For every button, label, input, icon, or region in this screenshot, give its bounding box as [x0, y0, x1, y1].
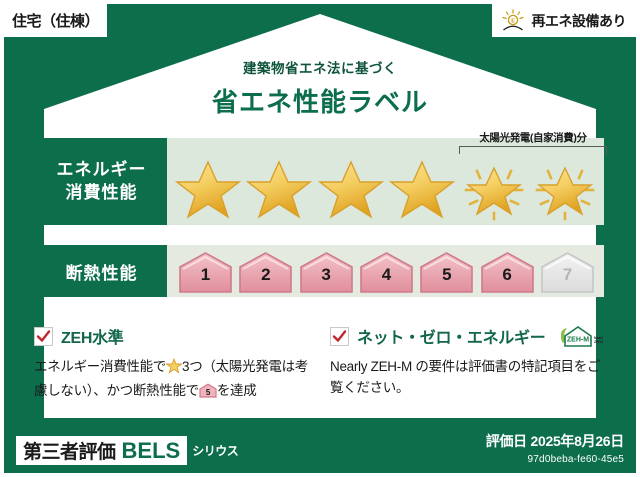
solar-annotation: 太陽光発電(自家消費)分 [459, 130, 607, 154]
renewable-badge-label: 再エネ設備あり [532, 11, 627, 31]
category-tab-label: 住宅（住棟） [12, 10, 99, 31]
insulation-grade-4: 4 [358, 250, 415, 294]
zeh-standard-body: エネルギー消費性能で 3つ（太陽光発電は考慮しない）、かつ断熱性能で 5を達成 [34, 357, 312, 405]
zeh-standard-body-part1: エネルギー消費性能で [34, 359, 166, 374]
title-main: 省エネ性能ラベル [0, 82, 640, 119]
svg-text:ZEH-M: ZEH-M [594, 340, 603, 344]
evaluation-date-value: 2025年8月26日 [530, 433, 624, 449]
bels-label: BELS [122, 438, 181, 464]
insulation-grade-scale: 1 2 3 [177, 249, 596, 295]
footer-evaluation-meta: 評価日 2025年8月26日 97d0beba-fe60-45e5 [486, 431, 624, 465]
insulation-grade-7-number: 7 [539, 265, 596, 285]
insulation-grade-2-number: 2 [237, 265, 294, 285]
star-filled [389, 157, 455, 221]
net-zero-energy-title: ネット・ゼロ・エネルギー [357, 324, 545, 348]
star-filled [246, 157, 312, 221]
insulation-row-label: 断熱性能 [36, 245, 167, 297]
zeh-standard-checkbox[interactable] [34, 327, 53, 346]
document-id: 97d0beba-fe60-45e5 [486, 454, 624, 465]
zeh-standard-header: ZEH水準 [34, 324, 312, 348]
sirius-label: シリウス [192, 442, 238, 459]
energy-row-value: 太陽光発電(自家消費)分 [167, 138, 604, 225]
renewable-energy-badge: E 再エネ設備あり [492, 4, 637, 37]
insulation-grade-3-number: 3 [298, 265, 355, 285]
star-rating [175, 156, 598, 222]
insulation-grade-4-number: 4 [358, 265, 415, 285]
star-filled [318, 157, 384, 221]
svg-text:E: E [511, 18, 515, 24]
star-filled-solar [532, 157, 598, 221]
energy-row-label-line2: 消費性能 [66, 182, 138, 205]
check-icon [332, 329, 347, 344]
net-zero-energy-body: Nearly ZEH-M の要件は評価書の特記項目をご覧ください。 [330, 357, 608, 399]
category-tab: 住宅（住棟） [4, 4, 107, 37]
svg-text:ZEH-M: ZEH-M [567, 337, 589, 344]
insulation-grade-3: 3 [298, 250, 355, 294]
energy-performance-label: 住宅（住棟） E 再エネ設備あり 建築物省エネ法に基づく 省エネ性能ラベル [0, 0, 640, 477]
insulation-grade-5: 5 [418, 250, 475, 294]
energy-row-label: エネルギー 消費性能 [36, 138, 167, 225]
sun-renewable-icon: E [500, 9, 526, 33]
evaluation-date-label: 評価日 [486, 433, 527, 449]
title-subtitle: 建築物省エネ法に基づく [0, 57, 640, 77]
zeh-standard-body-part3: を達成 [217, 383, 257, 398]
net-zero-energy-header: ネット・ゼロ・エネルギー ZEH-M Nearly ZEH-M [330, 324, 608, 348]
insulation-grade-7: 7 [539, 250, 596, 294]
check-icon [36, 329, 51, 344]
star-filled-solar [461, 157, 527, 221]
insulation-grade-6: 6 [479, 250, 536, 294]
footer-evaluation-brand: 第三者評価 BELS シリウス [16, 436, 238, 465]
zeh-m-logo-icon: ZEH-M Nearly ZEH-M [555, 324, 601, 348]
insulation-row-label-text: 断熱性能 [66, 259, 138, 284]
net-zero-energy-checkbox[interactable] [330, 327, 349, 346]
insulation-grade-1: 1 [177, 250, 234, 294]
zeh-standard-title: ZEH水準 [61, 324, 124, 348]
energy-row-label-line1: エネルギー [57, 159, 147, 182]
evaluation-date: 評価日 2025年8月26日 [486, 431, 624, 451]
solar-bracket [459, 146, 607, 154]
insulation-grade-2: 2 [237, 250, 294, 294]
page-title: 建築物省エネ法に基づく 省エネ性能ラベル [0, 57, 640, 119]
solar-annotation-label: 太陽光発電(自家消費)分 [459, 130, 607, 145]
energy-performance-row: エネルギー 消費性能 太陽光発電(自家消費)分 [36, 138, 604, 225]
insulation-grade-1-number: 1 [177, 265, 234, 285]
net-zero-energy-block: ネット・ゼロ・エネルギー ZEH-M Nearly ZEH-M Nearly Z… [330, 324, 608, 399]
insulation-row-value: 1 2 3 [167, 245, 604, 297]
star-filled [175, 157, 241, 221]
inline-house-icon: 5 [199, 383, 217, 405]
insulation-grade-5-number: 5 [418, 265, 475, 285]
bels-chip: 第三者評価 BELS [16, 436, 187, 465]
zeh-standard-block: ZEH水準 エネルギー消費性能で 3つ（太陽光発電は考慮しない）、かつ断熱性能で… [34, 324, 312, 405]
third-party-label: 第三者評価 [23, 437, 116, 464]
inline-star-icon [166, 358, 182, 381]
insulation-grade-6-number: 6 [479, 265, 536, 285]
insulation-performance-row: 断熱性能 1 2 [36, 245, 604, 297]
